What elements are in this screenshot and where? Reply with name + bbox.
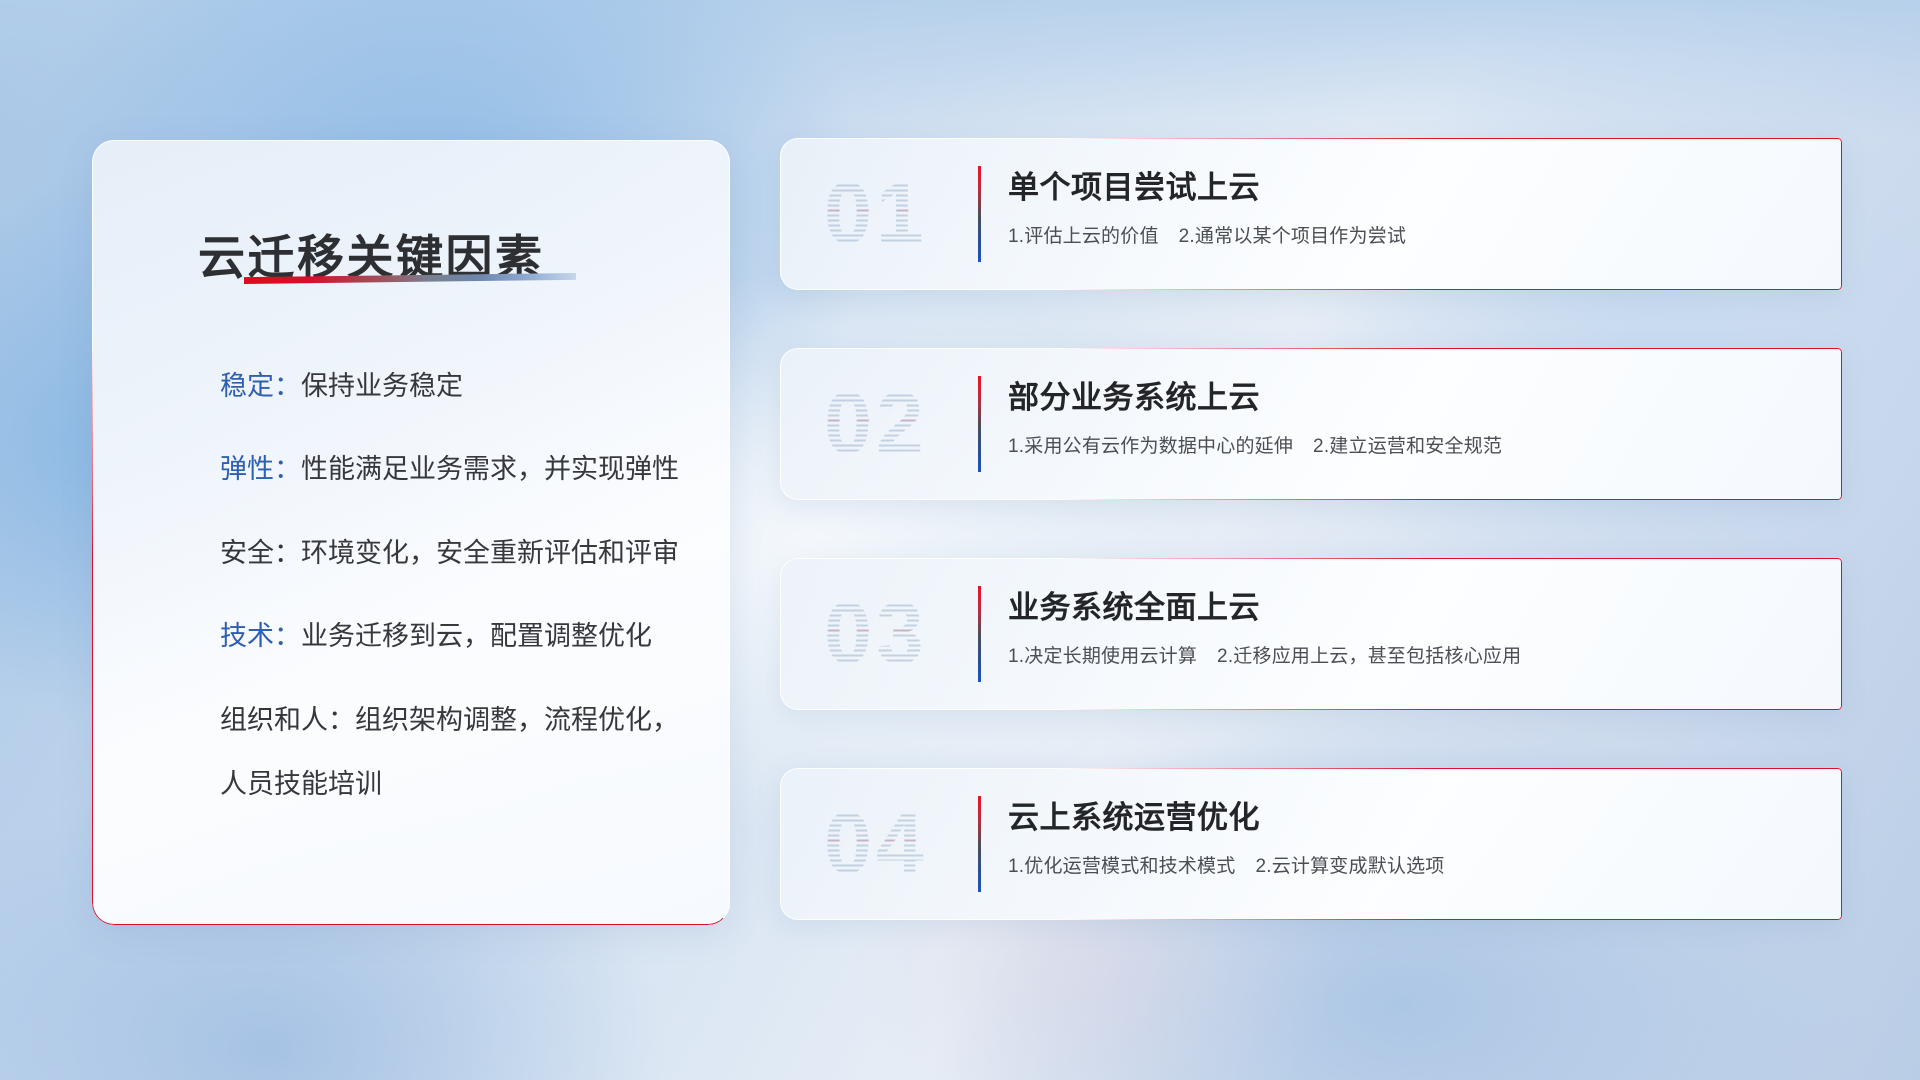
factor-list: 稳定：保持业务稳定 弹性：性能满足业务需求，并实现弹性 安全：环境变化，安全重新… [220, 368, 690, 803]
stage-point-2: 2.云计算变成默认选项 [1255, 856, 1444, 877]
migration-stage-list: 01 01 单个项目尝试上云 1.评估上云的价值2.通常以某个项目作为尝试 02… [780, 138, 1842, 978]
stage-point-2: 2.迁移应用上云，甚至包括核心应用 [1217, 646, 1521, 667]
factor-value-continued: 人员技能培训 [220, 766, 690, 802]
stage-heading: 单个项目尝试上云 [1008, 162, 1814, 207]
stage-heading: 云上系统运营优化 [1008, 792, 1814, 837]
factor-value: 性能满足业务需求，并实现弹性 [301, 454, 679, 484]
list-item: 组织和人：组织架构调整，流程优化， [220, 702, 690, 738]
factor-key: 安全： [220, 538, 301, 568]
list-item: 技术：业务迁移到云，配置调整优化 [220, 618, 690, 654]
stage-card-03[interactable]: 03 03 业务系统全面上云 1.决定长期使用云计算2.迁移应用上云，甚至包括核… [780, 558, 1842, 710]
stage-number-glitch-overlay: 03 [825, 585, 929, 684]
stage-points: 1.采用公有云作为数据中心的延伸2.建立运营和安全规范 [1008, 431, 1814, 458]
stage-point-1: 1.采用公有云作为数据中心的延伸 [1008, 436, 1293, 457]
factor-key: 组织和人： [220, 705, 355, 735]
factor-value: 环境变化，安全重新评估和评审 [301, 538, 679, 568]
stage-accent-bar [978, 796, 981, 892]
list-item: 安全：环境变化，安全重新评估和评审 [220, 535, 690, 571]
factor-key: 稳定： [220, 371, 301, 401]
stage-card-04[interactable]: 04 04 云上系统运营优化 1.优化运营模式和技术模式2.云计算变成默认选项 [780, 768, 1842, 920]
stage-heading: 部分业务系统上云 [1008, 372, 1814, 417]
stage-point-2: 2.通常以某个项目作为尝试 [1179, 226, 1406, 247]
factor-key: 弹性： [220, 454, 301, 484]
factor-value: 组织架构调整，流程优化， [355, 705, 679, 735]
stage-heading: 业务系统全面上云 [1008, 582, 1814, 627]
stage-points: 1.优化运营模式和技术模式2.云计算变成默认选项 [1008, 851, 1814, 878]
stage-point-1: 1.决定长期使用云计算 [1008, 646, 1197, 667]
stage-point-1: 1.优化运营模式和技术模式 [1008, 856, 1235, 877]
stage-number-glitch-overlay: 04 [825, 795, 929, 894]
stage-accent-bar [978, 166, 981, 262]
list-item: 稳定：保持业务稳定 [220, 368, 690, 404]
stage-number-glitch-overlay: 01 [825, 165, 929, 264]
stage-accent-bar [978, 376, 981, 472]
factor-value: 业务迁移到云，配置调整优化 [301, 621, 652, 651]
stage-points: 1.评估上云的价值2.通常以某个项目作为尝试 [1008, 221, 1814, 248]
key-factors-panel: 云迁移关键因素 稳定：保持业务稳定 弹性：性能满足业务需求，并实现弹性 安全：环… [92, 140, 730, 925]
stage-number-glitch-overlay: 02 [825, 375, 929, 474]
stage-points: 1.决定长期使用云计算2.迁移应用上云，甚至包括核心应用 [1008, 641, 1814, 668]
stage-card-02[interactable]: 02 02 部分业务系统上云 1.采用公有云作为数据中心的延伸2.建立运营和安全… [780, 348, 1842, 500]
stage-point-1: 1.评估上云的价值 [1008, 226, 1159, 247]
factor-key: 技术： [220, 621, 301, 651]
factor-value: 保持业务稳定 [301, 371, 463, 401]
stage-card-01[interactable]: 01 01 单个项目尝试上云 1.评估上云的价值2.通常以某个项目作为尝试 [780, 138, 1842, 290]
stage-accent-bar [978, 586, 981, 682]
list-item: 弹性：性能满足业务需求，并实现弹性 [220, 451, 690, 487]
stage-point-2: 2.建立运营和安全规范 [1313, 436, 1502, 457]
